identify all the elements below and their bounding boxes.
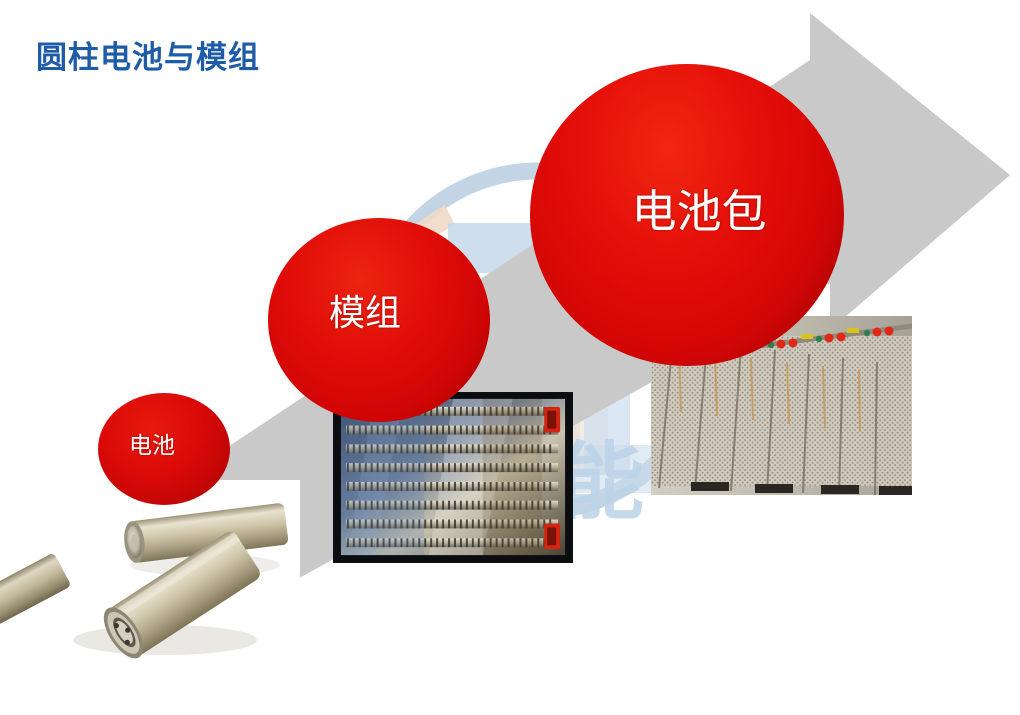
stage-label-module: 模组: [329, 284, 401, 336]
slide-canvas: 智 能: [0, 0, 1020, 715]
stage-label-pack: 电池包: [631, 175, 766, 240]
stage-bubble-cell[interactable]: 电池: [98, 393, 230, 505]
page-title: 圆柱电池与模组: [36, 32, 260, 77]
stage-label-cell: 电池: [129, 426, 175, 460]
stage-bubble-pack[interactable]: 电池包: [530, 64, 844, 366]
cylindrical-battery-cells-photo: [0, 480, 300, 665]
stage-bubble-module[interactable]: 模组: [268, 218, 490, 422]
